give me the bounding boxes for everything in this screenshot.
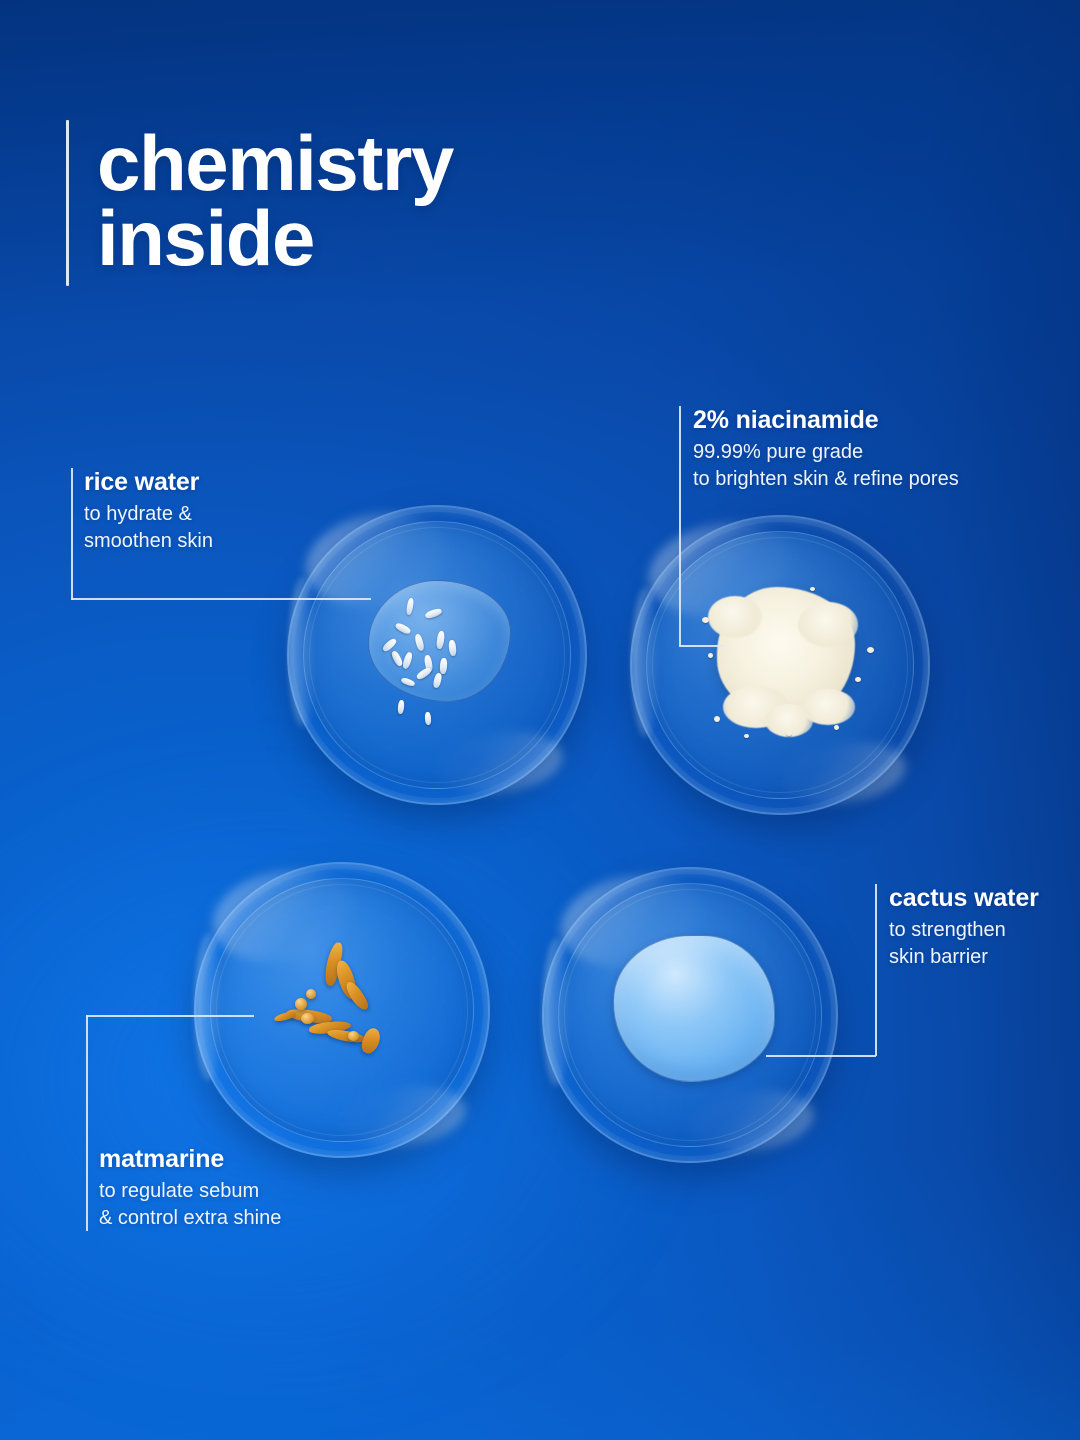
callout-subtitle-line-2: skin barrier <box>889 946 988 968</box>
callout-subtitle-line-1: 99.99% pure grade <box>693 441 863 463</box>
petri-dish-niacinamide <box>630 515 930 815</box>
callout-subtitle-line-1: to regulate sebum <box>99 1180 259 1202</box>
leader-line-cactus-horizontal <box>766 1055 876 1057</box>
callout-subtitle-line-2: smoothen skin <box>84 530 213 552</box>
petri-dish-rice <box>287 505 587 805</box>
page-title: chemistry inside <box>66 120 453 286</box>
ingredient-infographic: chemistry inside <box>0 0 1080 1440</box>
callout-title: matmarine <box>99 1145 281 1174</box>
callout-subtitle-line-1: to hydrate & <box>84 503 192 525</box>
leader-line-matmarine-vertical <box>86 1015 88 1231</box>
callout-subtitle-line-2: to brighten skin & refine pores <box>693 468 959 490</box>
callout-subtitle: 99.99% pure grade to brighten skin & ref… <box>693 439 959 492</box>
callout-subtitle-line-2: & control extra shine <box>99 1207 281 1229</box>
title-text: chemistry inside <box>97 120 453 286</box>
petri-dish-cactus <box>542 867 838 1163</box>
title-accent-rule <box>66 120 69 286</box>
callout-subtitle: to regulate sebum & control extra shine <box>99 1178 281 1231</box>
leader-line-niacinamide-horizontal <box>679 645 723 647</box>
callout-subtitle: to hydrate & smoothen skin <box>84 501 213 554</box>
leader-line-matmarine-horizontal <box>86 1015 254 1017</box>
petri-dish-matmarine <box>194 862 490 1158</box>
callout-title: 2% niacinamide <box>693 406 959 435</box>
title-line-2: inside <box>97 201 453 276</box>
callout-cactus-water: cactus water to strengthen skin barrier <box>889 884 1039 970</box>
leader-line-rice-horizontal <box>71 598 371 600</box>
callout-title: rice water <box>84 468 213 497</box>
leader-line-cactus-vertical <box>875 884 877 1056</box>
callout-subtitle-line-1: to strengthen <box>889 919 1006 941</box>
dish-rim <box>287 505 587 805</box>
callout-niacinamide: 2% niacinamide 99.99% pure grade to brig… <box>693 406 959 492</box>
callout-matmarine: matmarine to regulate sebum & control ex… <box>99 1145 281 1231</box>
callout-rice-water: rice water to hydrate & smoothen skin <box>84 468 213 554</box>
callout-title: cactus water <box>889 884 1039 913</box>
dish-rim <box>194 862 490 1158</box>
callout-subtitle: to strengthen skin barrier <box>889 917 1039 970</box>
dish-rim <box>630 515 930 815</box>
dish-rim <box>542 867 838 1163</box>
leader-line-niacinamide-vertical <box>679 406 681 646</box>
leader-line-rice-vertical <box>71 468 73 600</box>
